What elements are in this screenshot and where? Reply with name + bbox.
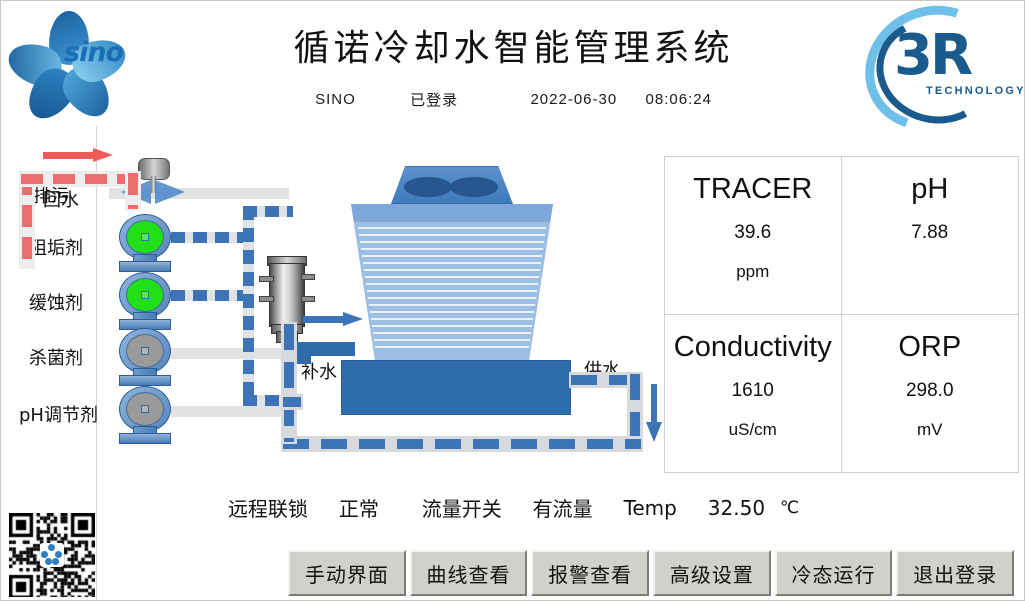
temp-unit: ℃ xyxy=(780,498,799,518)
advanced-settings-button[interactable]: 高级设置 xyxy=(653,550,771,596)
valve-right-cone xyxy=(155,180,185,204)
metric-orp: ORP 298.0 mV xyxy=(842,315,1019,473)
metric-name: ORP xyxy=(898,331,961,364)
return-water-drop xyxy=(125,171,141,211)
label-corrosion-inhibitor: 缓蚀剂 xyxy=(29,289,83,315)
metric-unit: mV xyxy=(917,420,943,440)
metric-conductivity: Conductivity 1610 uS/cm xyxy=(665,315,842,473)
user-name: SINO xyxy=(315,91,356,108)
flow-switch-value: 有流量 xyxy=(533,493,593,522)
pump-center-dot xyxy=(141,233,149,241)
vessel-nozzle-right-upper xyxy=(301,274,315,280)
return-water-pipe-to-tower xyxy=(19,171,141,187)
pump-corrosion-inhibitor[interactable] xyxy=(116,272,172,324)
pump-base xyxy=(119,375,171,386)
cold-start-button[interactable]: 冷态运行 xyxy=(775,550,893,596)
metric-tracer: TRACER 39.6 ppm xyxy=(665,157,842,315)
metric-name: TRACER xyxy=(693,173,812,206)
metric-value: 7.88 xyxy=(911,222,948,244)
3r-logo-text: 3R xyxy=(894,23,970,88)
fan-blade-left xyxy=(404,177,452,197)
label-ph-adjuster: pH调节剂 xyxy=(19,401,98,427)
cooling-tower xyxy=(341,166,591,421)
pump-center-dot xyxy=(141,291,149,299)
dose-riser xyxy=(243,206,254,406)
qr-code xyxy=(9,513,95,597)
temp-value: 32.50 xyxy=(708,496,765,520)
process-flow-diagram: 排污 阻垢剂 缓蚀剂 杀菌剂 pH调节剂 xyxy=(1,126,661,486)
tower-fill-slats xyxy=(351,222,553,350)
metric-name: pH xyxy=(911,173,948,206)
remote-interlock-label: 远程联锁 xyxy=(228,493,308,522)
alarm-view-button[interactable]: 报警查看 xyxy=(531,550,649,596)
metric-name: Conductivity xyxy=(674,331,832,364)
dose-line-corrosion xyxy=(171,290,251,301)
3r-technology-logo: 3R TECHNOLOGY xyxy=(860,5,1018,115)
current-time: 08:06:24 xyxy=(646,91,712,108)
circulation-return-branch xyxy=(281,394,303,410)
label-biocide: 杀菌剂 xyxy=(29,344,83,370)
makeup-inlet-pipe-vertical xyxy=(297,342,311,364)
metric-unit: uS/cm xyxy=(729,420,777,440)
pump-ph-adjuster[interactable] xyxy=(116,386,172,438)
flow-switch-label: 流量开关 xyxy=(422,493,502,522)
pipe-ph-line xyxy=(171,406,289,417)
circulation-return-left xyxy=(281,322,297,444)
metric-value: 39.6 xyxy=(734,222,771,244)
status-row: 远程联锁 正常 流量开关 有流量 Temp 32.50 ℃ xyxy=(1,493,1025,533)
hmi-screen: sino 循诺冷却水智能管理系统 SINO 已登录 2022-06-30 08:… xyxy=(0,0,1025,601)
dose-riser-top xyxy=(243,206,293,217)
measurement-panel: TRACER 39.6 ppm pH 7.88 Conductivity 161… xyxy=(664,156,1019,473)
pump-antiscalant[interactable] xyxy=(116,214,172,266)
fan-blade-right xyxy=(450,177,498,197)
vessel-shell xyxy=(269,263,305,327)
pump-center-dot xyxy=(141,405,149,413)
curve-view-button[interactable]: 曲线查看 xyxy=(410,550,528,596)
supply-flow-arrow xyxy=(646,384,662,442)
metric-unit: ppm xyxy=(736,262,769,282)
metric-value: 1610 xyxy=(732,380,774,402)
vessel-nozzle-left-upper xyxy=(259,276,274,282)
navigation-button-bar: 手动界面 曲线查看 报警查看 高级设置 冷态运行 退出登录 xyxy=(288,550,1014,596)
dose-line-antiscalant xyxy=(171,232,251,243)
manual-interface-button[interactable]: 手动界面 xyxy=(288,550,406,596)
pump-base xyxy=(119,261,171,272)
dose-riser-bottom xyxy=(243,395,283,406)
pump-center-dot xyxy=(141,347,149,355)
tower-basin xyxy=(341,360,571,415)
login-status: 已登录 xyxy=(410,89,458,110)
circulation-return-bottom xyxy=(281,436,643,452)
header: sino 循诺冷却水智能管理系统 SINO 已登录 2022-06-30 08:… xyxy=(1,1,1025,126)
label-antiscalant: 阻垢剂 xyxy=(29,234,83,260)
vessel-nozzle-left-lower xyxy=(259,296,274,302)
qr-code-center-logo xyxy=(40,543,64,567)
logout-button[interactable]: 退出登录 xyxy=(896,550,1014,596)
metric-ph: pH 7.88 xyxy=(842,157,1019,315)
pipe-biocide-line xyxy=(171,348,289,359)
current-date: 2022-06-30 xyxy=(530,91,617,108)
pump-base xyxy=(119,433,171,444)
label-return-water: 回水 xyxy=(43,186,79,212)
temp-label: Temp xyxy=(624,496,677,520)
metric-value: 298.0 xyxy=(906,380,954,402)
remote-interlock-value: 正常 xyxy=(339,493,379,522)
pump-biocide[interactable] xyxy=(116,328,172,380)
return-flow-arrow xyxy=(43,148,115,162)
3r-logo-subtext: TECHNOLOGY xyxy=(926,85,1025,97)
vessel-nozzle-right-lower xyxy=(301,296,315,302)
